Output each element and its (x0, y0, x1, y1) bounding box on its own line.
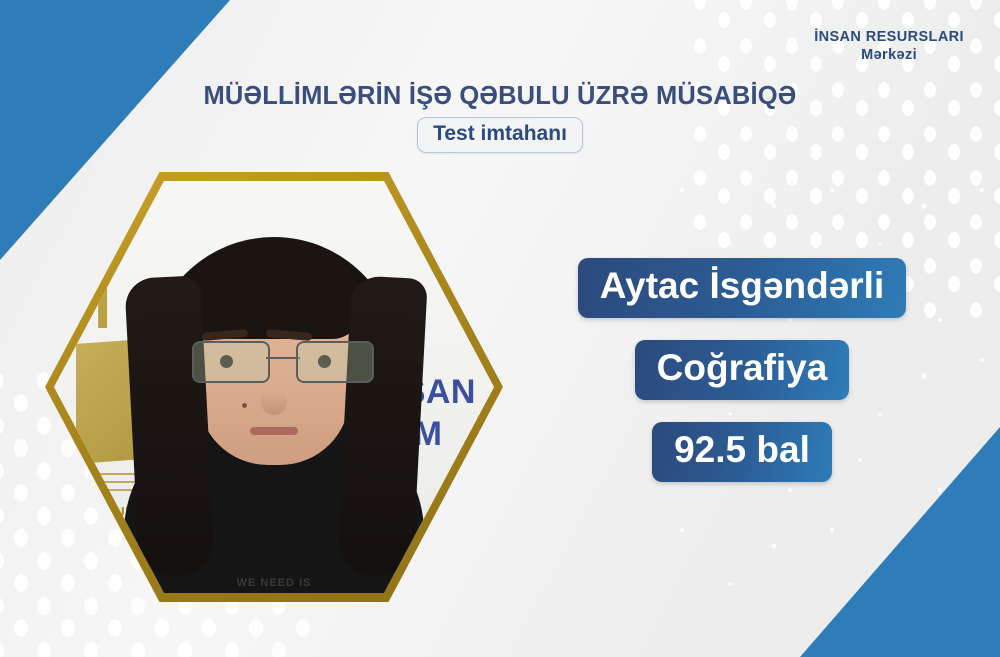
brand-line-2: Mərkəzi (814, 46, 964, 64)
portrait-mouth (250, 427, 298, 435)
candidate-photo: İ RESPUBLİKASININ İNSTİTUTU İNSAN M WE N… (54, 181, 494, 593)
portrait-hair-top (186, 241, 362, 339)
portrait-nose (261, 377, 287, 415)
eyeglass-lens-right (296, 341, 374, 383)
portrait-shirt-text: WE NEED IS (237, 577, 312, 589)
subject-badge: Coğrafiya (635, 340, 850, 400)
subtitle-badge: Test imtahanı (417, 117, 583, 153)
page-title: MÜƏLLİMLƏRİN İŞƏ QƏBULU ÜZRƏ MÜSABİQƏ (0, 82, 1000, 111)
brand-line-1: İNSAN RESURSLARI (814, 29, 964, 45)
candidate-name-badge: Aytac İsgəndərli (578, 258, 906, 318)
subtitle-badge-wrap: Test imtahanı (0, 117, 1000, 153)
portrait-hair-right (336, 275, 428, 579)
brand-lockup: İNSAN RESURSLARI Mərkəzi (814, 28, 964, 64)
eyeglass-lens-left (192, 341, 270, 383)
eyeglass-bridge (266, 357, 300, 359)
result-badge-group: Aytac İsgəndərli Coğrafiya 92.5 bal (520, 258, 964, 482)
portrait-mole (242, 403, 247, 408)
score-badge: 92.5 bal (652, 422, 832, 482)
portrait-eyeglasses (192, 341, 374, 381)
portrait-hair-left (124, 275, 216, 579)
result-card: İNSAN RESURSLARI Mərkəzi MÜƏLLİMLƏRİN İŞ… (0, 0, 1000, 657)
portrait-hexagon: İ RESPUBLİKASININ İNSTİTUTU İNSAN M WE N… (45, 172, 503, 602)
